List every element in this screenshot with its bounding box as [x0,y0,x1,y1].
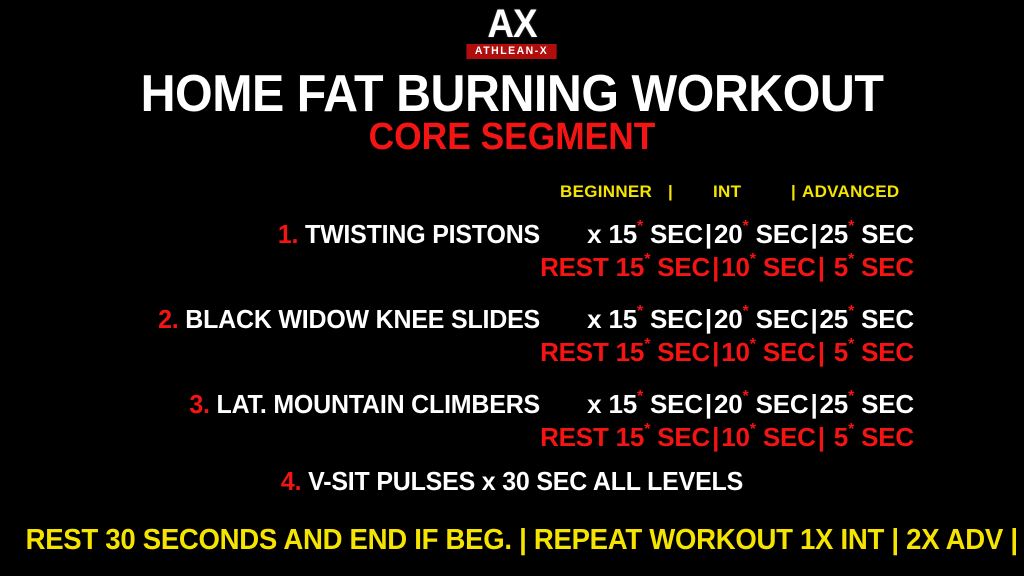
asterisk-marker: * [750,336,756,353]
page-title: HOME FAT BURNING WORKOUT [36,68,988,120]
asterisk-marker: * [848,421,854,438]
exercise-number: 2. [158,304,178,334]
rest-beginner-value: 15 [616,337,645,367]
column-header-advanced: ADVANCED [802,183,899,201]
asterisk-marker: * [848,251,854,268]
rest-prefix: REST [540,252,609,282]
exercise-number: 4. [281,466,301,496]
asterisk-marker: * [750,251,756,268]
value-separator: | [816,337,827,367]
exercise-label: BLACK WIDOW KNEE SLIDES [185,304,540,334]
exercise-row: 3. LAT. MOUNTAIN CLIMBERS x 15* SEC|20* … [0,389,1024,465]
exercise-number: 3. [189,389,209,419]
exercise-label: V-SIT PULSES x 30 SEC ALL LEVELS [308,466,743,496]
rest-advanced-unit: SEC [861,337,914,367]
asterisk-marker: * [848,303,854,320]
rest-intermediate-unit: SEC [763,252,816,282]
work-beginner-unit: SEC [650,219,703,249]
exercise-name: 3. LAT. MOUNTAIN CLIMBERS [22,389,540,419]
value-separator: | [808,219,819,249]
work-beginner-value: 15 [608,219,637,249]
value-separator: | [703,389,714,419]
asterisk-marker: * [750,421,756,438]
work-intermediate-unit: SEC [756,219,809,249]
exercise-row: 4. V-SIT PULSES x 30 SEC ALL LEVELS [20,466,1003,496]
exercise-number: 1. [278,219,298,249]
work-beginner-unit: SEC [650,304,703,334]
rest-intermediate-value: 10 [721,337,750,367]
asterisk-marker: * [743,388,749,405]
column-separator-2: | [791,183,796,201]
ax-monogram-icon: AX [41,6,983,42]
exercise-label: LAT. MOUNTAIN CLIMBERS [217,389,540,419]
value-separator: | [816,422,827,452]
asterisk-marker: * [644,251,650,268]
asterisk-marker: * [743,303,749,320]
rest-durations: REST 15* SEC|10* SEC| 5* SEC [540,252,914,282]
work-beginner-unit: SEC [650,389,703,419]
work-intermediate-value: 20 [714,219,743,249]
work-intermediate-unit: SEC [756,304,809,334]
rest-durations: REST 15* SEC|10* SEC| 5* SEC [540,422,914,452]
workout-slide: AX ATHLEAN-X HOME FAT BURNING WORKOUT CO… [0,0,1024,576]
work-durations: x 15* SEC|20* SEC|25* SEC [540,219,914,249]
work-beginner-value: 15 [608,304,637,334]
rest-advanced-value: 5 [834,337,848,367]
rest-beginner-value: 15 [616,252,645,282]
work-advanced-value: 25 [820,219,849,249]
rest-prefix: REST [540,422,609,452]
asterisk-marker: * [644,336,650,353]
rest-intermediate-value: 10 [721,252,750,282]
work-prefix: x [587,219,601,249]
work-advanced-value: 25 [820,304,849,334]
work-prefix: x [587,304,601,334]
exercise-label: TWISTING PISTONS [305,219,540,249]
work-advanced-unit: SEC [861,389,914,419]
asterisk-marker: * [644,421,650,438]
rest-beginner-unit: SEC [657,252,710,282]
exercise-row: 1. TWISTING PISTONS x 15* SEC|20* SEC|25… [0,219,1024,295]
athlean-x-wordmark: ATHLEAN-X [467,44,557,59]
value-separator: | [703,304,714,334]
work-intermediate-value: 20 [714,304,743,334]
value-separator: | [808,389,819,419]
asterisk-marker: * [848,218,854,235]
work-advanced-unit: SEC [861,219,914,249]
work-beginner-value: 15 [608,389,637,419]
rest-intermediate-unit: SEC [763,422,816,452]
rest-durations: REST 15* SEC|10* SEC| 5* SEC [540,337,914,367]
value-separator: | [808,304,819,334]
exercise-name: 1. TWISTING PISTONS [22,219,540,249]
rest-prefix: REST [540,337,609,367]
value-separator: | [816,252,827,282]
value-separator: | [710,337,721,367]
asterisk-marker: * [848,388,854,405]
rest-beginner-unit: SEC [657,337,710,367]
work-durations: x 15* SEC|20* SEC|25* SEC [540,389,914,419]
value-separator: | [703,219,714,249]
column-header-intermediate: INT [713,183,741,201]
asterisk-marker: * [848,336,854,353]
workout-instructions-footer: REST 30 SECONDS AND END IF BEG. | REPEAT… [26,524,999,556]
page-subtitle: CORE SEGMENT [36,118,988,156]
column-separator-1: | [668,183,673,201]
rest-intermediate-unit: SEC [763,337,816,367]
rest-advanced-value: 5 [834,252,848,282]
work-durations: x 15* SEC|20* SEC|25* SEC [540,304,914,334]
work-prefix: x [587,389,601,419]
rest-advanced-unit: SEC [861,252,914,282]
exercise-name: 2. BLACK WIDOW KNEE SLIDES [22,304,540,334]
rest-advanced-unit: SEC [861,422,914,452]
value-separator: | [710,422,721,452]
value-separator: | [710,252,721,282]
asterisk-marker: * [637,303,643,320]
work-advanced-value: 25 [820,389,849,419]
rest-intermediate-value: 10 [721,422,750,452]
asterisk-marker: * [637,218,643,235]
rest-advanced-value: 5 [834,422,848,452]
rest-beginner-value: 15 [616,422,645,452]
asterisk-marker: * [637,388,643,405]
column-header-beginner: BEGINNER [560,183,652,201]
work-advanced-unit: SEC [861,304,914,334]
athlean-x-logo: AX ATHLEAN-X [0,6,1024,59]
work-intermediate-unit: SEC [756,389,809,419]
asterisk-marker: * [743,218,749,235]
rest-beginner-unit: SEC [657,422,710,452]
work-intermediate-value: 20 [714,389,743,419]
exercise-row: 2. BLACK WIDOW KNEE SLIDES x 15* SEC|20*… [0,304,1024,380]
